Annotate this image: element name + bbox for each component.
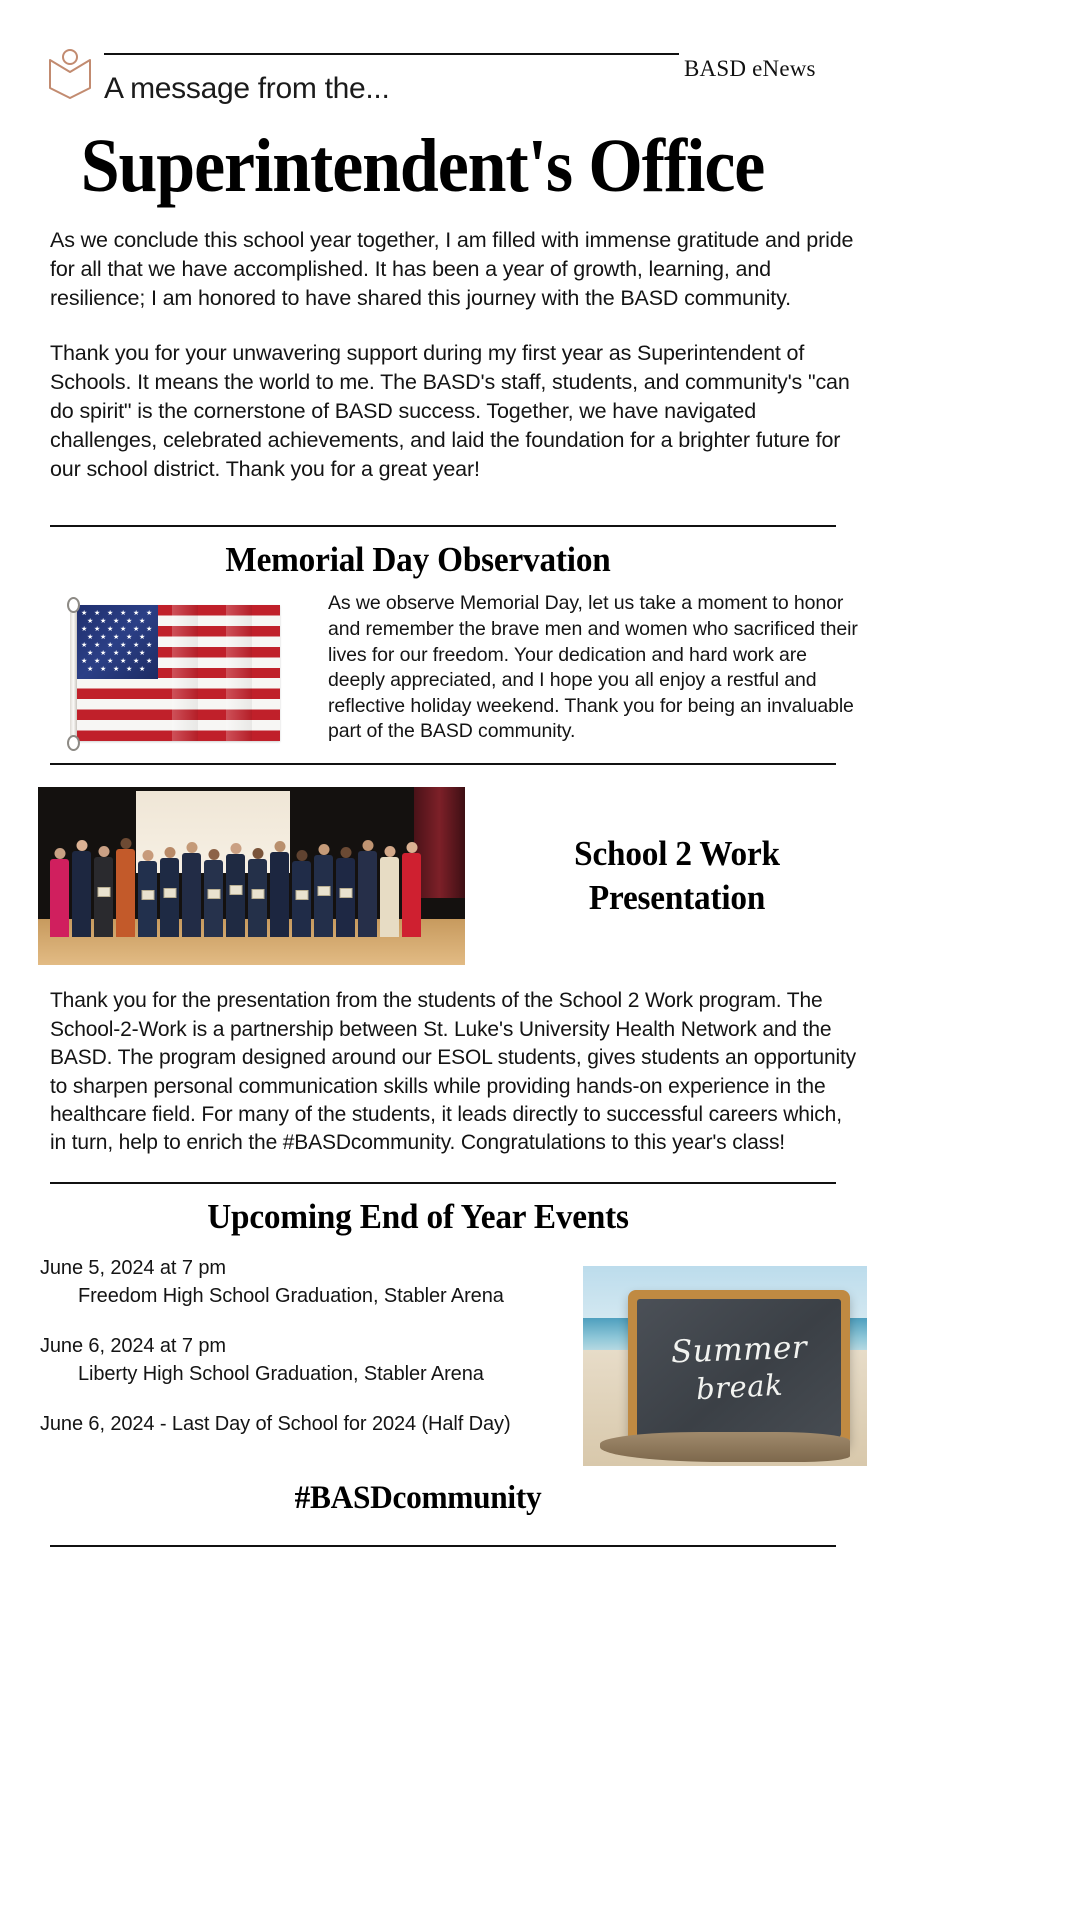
- intro-paragraph-2: Thank you for your unwavering support du…: [50, 339, 862, 483]
- school-2-work-photo: [38, 787, 465, 965]
- superintendent-message: As we conclude this school year together…: [50, 226, 862, 483]
- event-detail: Freedom High School Graduation, Stabler …: [40, 1282, 580, 1310]
- list-item: June 6, 2024 at 7 pm Liberty High School…: [40, 1332, 580, 1388]
- open-book-icon: [48, 48, 92, 100]
- event-date: June 6, 2024 at 7 pm: [40, 1332, 580, 1360]
- memorial-day-block: ★★ ★★ ★★ ★★ ★★ ★ ★★ ★★ ★★ ★★ ★★ ★ ★★ ★★: [0, 591, 889, 749]
- school-2-work-block: School 2 Work Presentation: [0, 787, 889, 965]
- flag-grommet-bottom: [67, 735, 80, 751]
- newsletter-page: BASD eNews A message from the... Superin…: [0, 0, 1080, 1920]
- memorial-day-body: As we observe Memorial Day, let us take …: [328, 591, 866, 745]
- list-item: June 6, 2024 - Last Day of School for 20…: [40, 1410, 580, 1438]
- list-item: June 5, 2024 at 7 pm Freedom High School…: [40, 1254, 580, 1310]
- divider-events: [50, 1182, 836, 1184]
- divider-school2work: [50, 763, 836, 765]
- summer-break-photo: Summer break: [583, 1266, 867, 1466]
- american-flag-image: ★★ ★★ ★★ ★★ ★★ ★ ★★ ★★ ★★ ★★ ★★ ★ ★★ ★★: [62, 599, 280, 749]
- events-list: June 5, 2024 at 7 pm Freedom High School…: [40, 1254, 580, 1438]
- masthead-kicker: A message from the...: [104, 72, 390, 106]
- school-2-work-heading: School 2 Work Presentation: [476, 832, 879, 920]
- chalkboard-line-2: break: [695, 1368, 784, 1407]
- event-detail: Liberty High School Graduation, Stabler …: [40, 1360, 580, 1388]
- bottom-rule: [50, 1545, 836, 1547]
- divider-memorial: [50, 525, 836, 527]
- flag-stars: ★★ ★★ ★★ ★★ ★★ ★ ★★ ★★ ★★ ★★ ★★ ★ ★★ ★★: [76, 605, 280, 741]
- newsletter-column: BASD eNews A message from the... Superin…: [0, 0, 889, 1920]
- chalkboard-line-1: Summer: [671, 1329, 808, 1370]
- memorial-day-heading: Memorial Day Observation: [21, 539, 815, 581]
- events-heading: Upcoming End of Year Events: [21, 1196, 815, 1238]
- intro-paragraph-1: As we conclude this school year together…: [50, 226, 862, 312]
- event-date: June 5, 2024 at 7 pm: [40, 1254, 580, 1282]
- chalkboard-graphic: Summer break: [628, 1290, 850, 1446]
- event-date: June 6, 2024 - Last Day of School for 20…: [40, 1410, 580, 1438]
- flag-graphic: ★★ ★★ ★★ ★★ ★★ ★ ★★ ★★ ★★ ★★ ★★ ★ ★★ ★★: [76, 605, 280, 741]
- events-block: June 5, 2024 at 7 pm Freedom High School…: [0, 1254, 889, 1474]
- publication-label: BASD eNews: [684, 56, 816, 82]
- flag-halyard: [70, 599, 77, 749]
- masthead-rule: [104, 53, 679, 55]
- school-2-work-body: Thank you for the presentation from the …: [50, 987, 862, 1157]
- hashtag: #BASDcommunity: [21, 1480, 815, 1517]
- page-title: Superintendent's Office: [34, 128, 811, 204]
- masthead: BASD eNews A message from the...: [0, 0, 889, 120]
